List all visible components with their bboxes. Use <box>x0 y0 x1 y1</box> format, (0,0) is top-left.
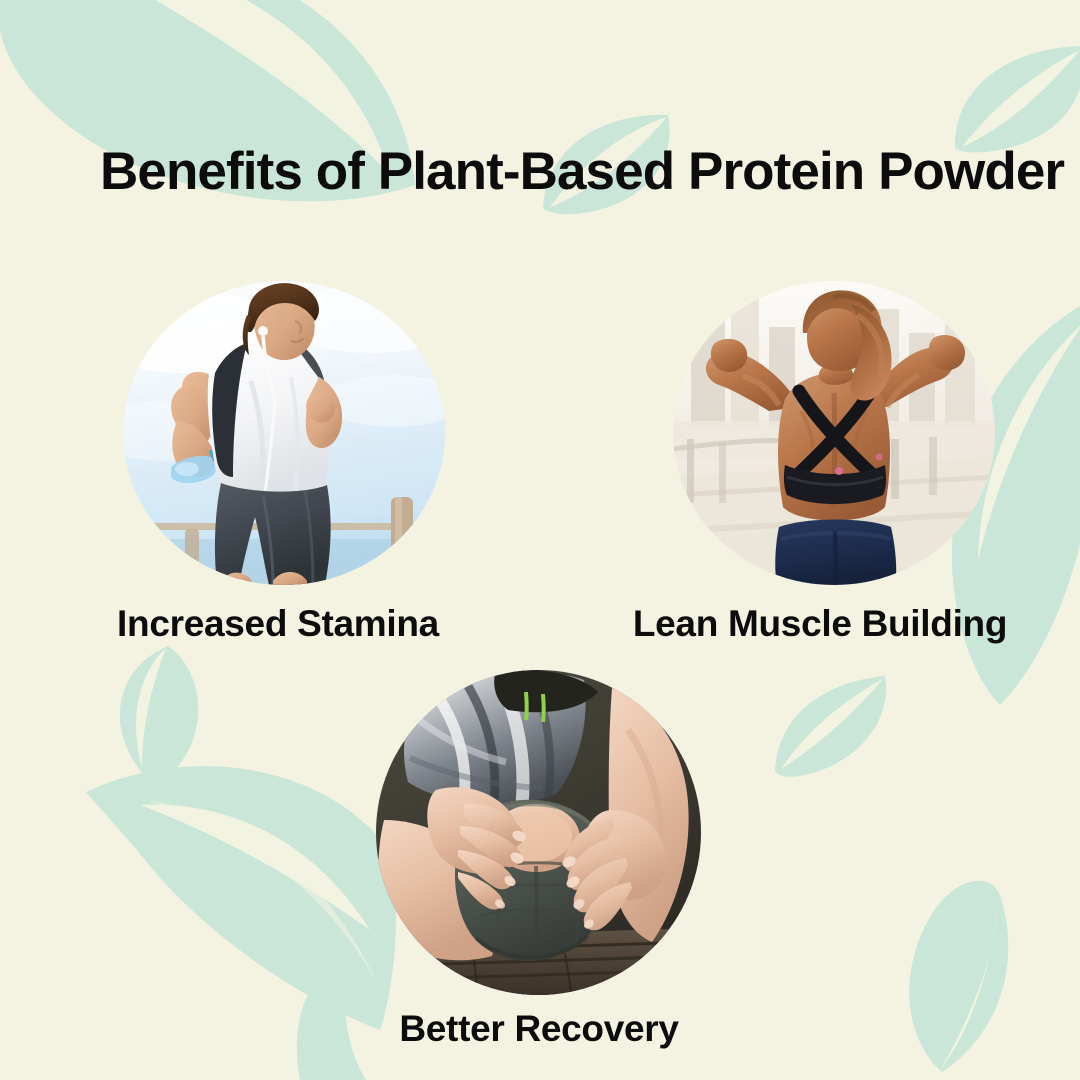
woman-flexing-arms-photo <box>673 281 995 585</box>
benefit-label-stamina: Increased Stamina <box>117 603 439 645</box>
benefit-card-muscle: Lean Muscle Building <box>673 281 995 585</box>
benefit-card-stamina: Increased Stamina <box>123 281 445 585</box>
leaf-top-right <box>955 46 1080 152</box>
leaf-right-mid <box>775 676 886 777</box>
infographic-poster: Benefits of Plant-Based Protein Powder <box>0 0 1080 1080</box>
benefit-card-recovery: Better Recovery <box>376 670 701 995</box>
leaf-bottom-left-small <box>297 952 366 1080</box>
benefit-label-muscle: Lean Muscle Building <box>633 603 1007 645</box>
knee-brace-recovery-photo <box>376 670 701 995</box>
benefit-label-recovery: Better Recovery <box>399 1008 678 1050</box>
leaf-left-cluster-upper <box>120 646 198 781</box>
man-jogging-outdoors-photo <box>123 281 445 585</box>
page-title: Benefits of Plant-Based Protein Powder <box>100 140 1000 204</box>
leaf-left-cluster-lower <box>86 766 396 1030</box>
leaf-bottom-right <box>909 881 1008 1072</box>
